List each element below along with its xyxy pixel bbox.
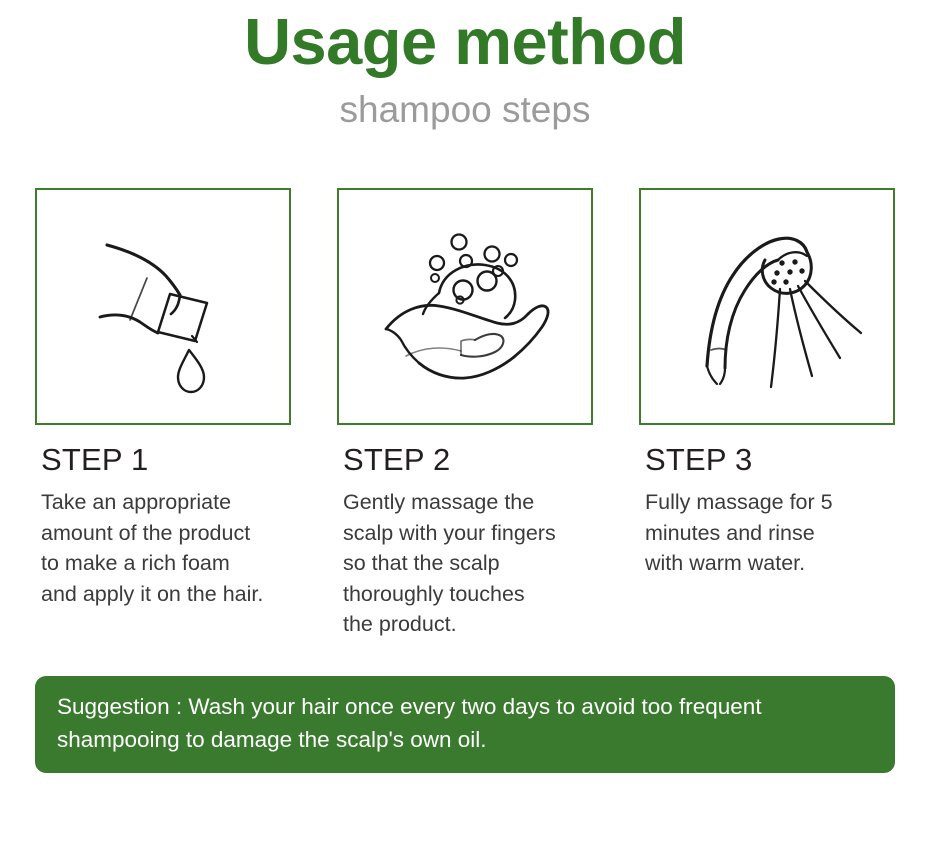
steps-row: STEP 1 Take an appropriate amount of the… bbox=[35, 188, 895, 640]
step-column-3: STEP 3 Fully massage for 5 minutes and r… bbox=[639, 188, 895, 640]
step-card-1 bbox=[35, 188, 291, 425]
page-title: Usage method bbox=[0, 4, 930, 78]
step-heading-2: STEP 2 bbox=[337, 425, 593, 477]
bottle-pouring-drop-icon bbox=[37, 190, 289, 423]
step-column-1: STEP 1 Take an appropriate amount of the… bbox=[35, 188, 291, 640]
step-heading-3: STEP 3 bbox=[639, 425, 895, 477]
step-column-2: STEP 2 Gently massage the scalp with you… bbox=[337, 188, 593, 640]
step-body-3: Fully massage for 5 minutes and rinse wi… bbox=[639, 477, 897, 579]
page-header: Usage method shampoo steps bbox=[0, 0, 930, 130]
hand-with-foam-bubbles-icon bbox=[339, 190, 591, 423]
step-body-2: Gently massage the scalp with your finge… bbox=[337, 477, 595, 640]
suggestion-text: Suggestion : Wash your hair once every t… bbox=[57, 691, 873, 756]
step-heading-1: STEP 1 bbox=[35, 425, 291, 477]
step-card-2 bbox=[337, 188, 593, 425]
suggestion-banner: Suggestion : Wash your hair once every t… bbox=[35, 676, 895, 773]
shower-head-spraying-icon bbox=[641, 190, 893, 423]
step-body-1: Take an appropriate amount of the produc… bbox=[35, 477, 293, 609]
step-card-3 bbox=[639, 188, 895, 425]
page-subtitle: shampoo steps bbox=[0, 78, 930, 131]
